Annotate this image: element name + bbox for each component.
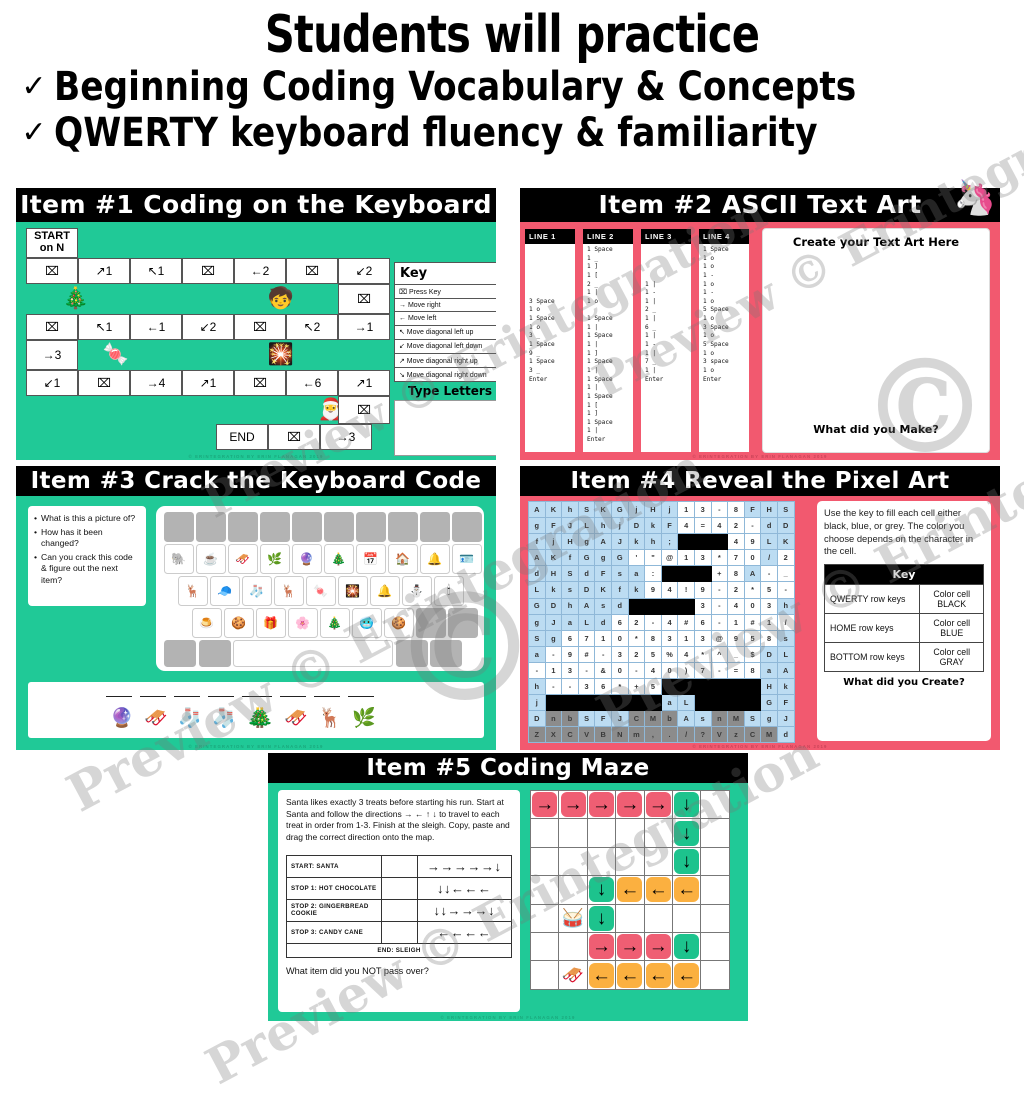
pixel-cell[interactable] <box>645 598 662 614</box>
maze-empty-cell[interactable] <box>559 819 587 847</box>
pixel-cell[interactable] <box>728 695 745 711</box>
pixel-cell[interactable]: a <box>529 646 546 662</box>
pixel-cell[interactable] <box>611 695 628 711</box>
item1-code-cell[interactable]: ⌧ <box>338 396 390 424</box>
arrow-icon[interactable]: → <box>589 934 614 959</box>
pixel-cell[interactable]: 2 <box>728 518 745 534</box>
maze-empty-cell[interactable] <box>701 961 729 989</box>
pixel-cell[interactable]: M <box>645 711 662 727</box>
maze-arrow-tile[interactable]: ↓ <box>587 904 615 932</box>
pixel-cell[interactable]: V <box>578 727 595 743</box>
pixel-cell[interactable]: S <box>562 566 579 582</box>
pixel-cell[interactable]: * <box>744 582 761 598</box>
pixel-cell[interactable]: H <box>761 679 778 695</box>
arrow-icon[interactable]: → <box>617 934 642 959</box>
maze-empty-cell[interactable] <box>587 819 615 847</box>
pixel-cell[interactable]: A <box>529 550 546 566</box>
pixel-cell[interactable]: g <box>578 534 595 550</box>
pixel-cell[interactable]: 0 <box>611 662 628 678</box>
blank-key[interactable] <box>356 512 386 542</box>
pixel-cell[interactable] <box>678 598 695 614</box>
pixel-cell[interactable]: G <box>761 695 778 711</box>
pixel-cell[interactable]: 8 <box>744 662 761 678</box>
maze-empty-cell[interactable] <box>701 847 729 875</box>
pixel-cell[interactable]: L <box>578 614 595 630</box>
picture-key[interactable]: 🏠 <box>388 544 418 574</box>
pixel-cell[interactable]: D <box>578 582 595 598</box>
pixel-cell[interactable]: F <box>545 518 562 534</box>
pixel-cell[interactable]: 7 <box>578 630 595 646</box>
pixel-cell[interactable]: - <box>545 646 562 662</box>
item1-code-cell[interactable]: ⌧ <box>268 424 320 450</box>
maze-arrow-tile[interactable]: ↓ <box>587 876 615 904</box>
picture-key[interactable]: ☕ <box>196 544 226 574</box>
pixel-cell[interactable]: 1 <box>678 630 695 646</box>
pixel-cell[interactable]: 9 <box>562 646 579 662</box>
pixel-cell[interactable]: k <box>645 518 662 534</box>
item1-code-cell[interactable]: ⌧ <box>182 258 234 284</box>
pixel-cell[interactable]: - <box>545 679 562 695</box>
picture-keyboard[interactable]: 🐘☕🛷🌿🔮🎄📅🏠🔔🪪🦌🧢🧦🦌🍬🎇🔔⛄🕯🍮🍪🎁🌸🎄🥶🍪 <box>156 506 484 671</box>
pixel-cell[interactable]: = <box>694 518 711 534</box>
pixel-cell[interactable]: M <box>728 711 745 727</box>
spacebar[interactable] <box>233 640 393 667</box>
pixel-cell[interactable] <box>678 566 695 582</box>
pixel-cell[interactable]: C <box>562 727 579 743</box>
item1-code-cell[interactable]: ⌧ <box>26 314 78 340</box>
pixel-cell[interactable]: _ <box>777 566 794 582</box>
arrow-icon[interactable]: ↓ <box>674 821 699 846</box>
type-letters-input[interactable] <box>394 400 496 456</box>
pixel-cell[interactable]: C <box>744 727 761 743</box>
pixel-cell[interactable]: 4 <box>645 662 662 678</box>
pixel-cell[interactable] <box>744 679 761 695</box>
arrow-icon[interactable]: ↓ <box>589 877 614 902</box>
maze-arrow-tile[interactable]: → <box>531 791 559 819</box>
blank-key[interactable] <box>448 608 478 638</box>
pixel-cell[interactable]: 6 <box>611 614 628 630</box>
pixel-cell[interactable]: # <box>744 614 761 630</box>
item1-code-cell[interactable]: ⌧ <box>234 370 286 396</box>
picture-key[interactable]: 🦌 <box>274 576 304 606</box>
pixel-cell[interactable]: m <box>628 727 645 743</box>
text-art-canvas[interactable]: Create your Text Art Here What did you M… <box>762 228 990 453</box>
pixel-cell[interactable]: X <box>545 727 562 743</box>
pixel-cell[interactable]: - <box>645 614 662 630</box>
maze-arrow-tile[interactable]: ← <box>616 876 644 904</box>
item1-code-cell[interactable]: ⌧ <box>26 258 78 284</box>
pixel-cell[interactable]: h <box>595 518 612 534</box>
pixel-cell[interactable]: % <box>661 646 678 662</box>
item1-code-cell[interactable]: ⌧ <box>78 370 130 396</box>
pixel-cell[interactable]: J <box>611 534 628 550</box>
arrow-icon[interactable]: ← <box>646 877 671 902</box>
pixel-cell[interactable]: 2 <box>777 550 794 566</box>
pixel-cell[interactable]: 1 <box>678 550 695 566</box>
pixel-cell[interactable]: j <box>529 695 546 711</box>
pixel-cell[interactable]: / <box>761 550 778 566</box>
pixel-cell[interactable]: : <box>645 566 662 582</box>
maze-arrow-tile[interactable]: → <box>587 791 615 819</box>
picture-key[interactable]: 🔔 <box>370 576 400 606</box>
arrow-icon[interactable]: → <box>561 792 586 817</box>
maze-empty-cell[interactable] <box>701 791 729 819</box>
pixel-cell[interactable]: L <box>578 518 595 534</box>
maze-empty-cell[interactable] <box>701 876 729 904</box>
maze-empty-cell[interactable] <box>531 961 559 989</box>
pixel-cell[interactable]: s <box>694 711 711 727</box>
blank-key[interactable] <box>416 608 446 638</box>
pixel-cell[interactable]: * <box>611 679 628 695</box>
maze-empty-cell[interactable] <box>701 904 729 932</box>
pixel-cell[interactable]: A <box>777 662 794 678</box>
maze-arrow-tile[interactable]: ↓ <box>672 791 700 819</box>
pixel-cell[interactable]: g <box>545 630 562 646</box>
pixel-cell[interactable]: L <box>529 582 546 598</box>
picture-key[interactable]: 🎇 <box>338 576 368 606</box>
pixel-cell[interactable]: 9 <box>694 582 711 598</box>
pixel-cell[interactable]: 9 <box>645 582 662 598</box>
answer-blank[interactable] <box>106 696 132 697</box>
pixel-cell[interactable]: a <box>761 662 778 678</box>
picture-key[interactable]: 🎁 <box>256 608 286 638</box>
pixel-cell[interactable]: K <box>777 534 794 550</box>
pixel-cell[interactable]: + <box>628 679 645 695</box>
pixel-cell[interactable]: F <box>595 566 612 582</box>
pixel-cell[interactable]: 5 <box>645 679 662 695</box>
blank-key[interactable] <box>420 512 450 542</box>
pixel-cell[interactable]: K <box>545 502 562 518</box>
pixel-cell[interactable]: 4 <box>728 534 745 550</box>
pixel-cell[interactable]: H <box>761 502 778 518</box>
item1-code-cell[interactable]: ↗1 <box>338 370 390 396</box>
arrow-icon[interactable]: → <box>646 934 671 959</box>
pixel-cell[interactable]: 3 <box>694 502 711 518</box>
pixel-cell[interactable]: 3 <box>661 630 678 646</box>
pixel-cell[interactable]: d <box>761 518 778 534</box>
picture-key[interactable]: 🌿 <box>260 544 290 574</box>
picture-key[interactable]: 🦌 <box>178 576 208 606</box>
pixel-cell[interactable]: f <box>562 550 579 566</box>
pixel-cell[interactable] <box>562 695 579 711</box>
pixel-cell[interactable]: L <box>678 695 695 711</box>
pixel-cell[interactable]: - <box>711 502 728 518</box>
pixel-cell[interactable]: n <box>545 711 562 727</box>
pixel-cell[interactable]: K <box>595 582 612 598</box>
pixel-cell[interactable]: - <box>628 662 645 678</box>
pixel-cell[interactable]: d <box>777 727 794 743</box>
arrow-icon[interactable]: ← <box>674 963 699 988</box>
pixel-cell[interactable]: - <box>777 582 794 598</box>
item1-code-cell[interactable]: ↗1 <box>78 258 130 284</box>
picture-key[interactable]: 🥶 <box>352 608 382 638</box>
blank-key[interactable] <box>260 512 290 542</box>
pixel-cell[interactable]: 4 <box>711 518 728 534</box>
pixel-cell[interactable]: f <box>529 534 546 550</box>
item1-code-cell[interactable]: ←1 <box>130 314 182 340</box>
pixel-cell[interactable]: d <box>595 614 612 630</box>
maze-empty-cell[interactable] <box>531 847 559 875</box>
item1-code-cell[interactable]: ⌧ <box>286 258 338 284</box>
arrow-icon[interactable]: → <box>532 792 557 817</box>
item1-code-cell[interactable]: →4 <box>130 370 182 396</box>
pixel-cell[interactable]: h <box>529 679 546 695</box>
answer-blank[interactable] <box>348 696 374 697</box>
pixel-cell[interactable]: C <box>628 711 645 727</box>
pixel-cell[interactable]: N <box>611 727 628 743</box>
pixel-cell[interactable]: * <box>628 630 645 646</box>
pixel-cell[interactable]: 6 <box>595 679 612 695</box>
maze-arrow-tile[interactable]: ↓ <box>672 819 700 847</box>
pixel-cell[interactable]: D <box>628 518 645 534</box>
pixel-cell[interactable]: 7 <box>728 550 745 566</box>
pixel-cell[interactable]: g <box>529 518 546 534</box>
pixel-cell[interactable]: - <box>711 662 728 678</box>
pixel-cell[interactable]: F <box>744 502 761 518</box>
pixel-cell[interactable]: 8 <box>645 630 662 646</box>
pixel-cell[interactable]: = <box>728 662 745 678</box>
pixel-cell[interactable]: A <box>744 566 761 582</box>
pixel-cell[interactable]: k <box>545 582 562 598</box>
pixel-cell[interactable]: K <box>595 502 612 518</box>
maze-grid[interactable]: →→→→→↓↓↓↓←←←🥁↓→→→↓🛷←←←← <box>530 790 730 990</box>
pixel-cell[interactable]: 5 <box>744 630 761 646</box>
pixel-cell[interactable] <box>628 598 645 614</box>
item1-code-cell[interactable]: ↖2 <box>286 314 338 340</box>
pixel-cell[interactable]: d <box>529 566 546 582</box>
maze-arrow-tile[interactable]: → <box>616 791 644 819</box>
arrow-icon[interactable]: ↓ <box>589 906 614 931</box>
pixel-cell[interactable]: 0 <box>744 550 761 566</box>
pixel-cell[interactable]: 3 <box>694 630 711 646</box>
arrow-icon[interactable]: ← <box>617 877 642 902</box>
pixel-cell[interactable] <box>694 566 711 582</box>
pixel-cell[interactable]: # <box>578 646 595 662</box>
pixel-cell[interactable]: / <box>777 614 794 630</box>
pixel-cell[interactable]: / <box>678 727 695 743</box>
pixel-cell[interactable]: D <box>529 711 546 727</box>
pixel-cell[interactable] <box>694 695 711 711</box>
pixel-cell[interactable]: - <box>562 679 579 695</box>
pixel-cell[interactable]: * <box>694 646 711 662</box>
pixel-cell[interactable]: K <box>545 550 562 566</box>
pixel-cell[interactable] <box>661 566 678 582</box>
item3-answer-box[interactable]: 🔮🛷🧦🧦🎄🎄🛷🦌🌿 <box>28 682 484 738</box>
pixel-cell[interactable]: H <box>645 502 662 518</box>
pixel-cell[interactable] <box>628 695 645 711</box>
maze-empty-cell[interactable] <box>531 904 559 932</box>
pixel-cell[interactable]: 7 <box>694 662 711 678</box>
maze-empty-cell[interactable] <box>616 904 644 932</box>
pixel-cell[interactable]: s <box>595 598 612 614</box>
maze-item-sleigh[interactable]: 🛷 <box>559 961 587 989</box>
maze-empty-cell[interactable] <box>559 847 587 875</box>
maze-arrow-tile[interactable]: ← <box>672 961 700 989</box>
pixel-cell[interactable]: G <box>611 550 628 566</box>
pixel-cell[interactable]: S <box>578 502 595 518</box>
maze-empty-cell[interactable] <box>644 847 672 875</box>
pixel-cell[interactable]: + <box>711 566 728 582</box>
pixel-cell[interactable]: G <box>578 550 595 566</box>
answer-blank[interactable] <box>280 696 306 697</box>
pixel-cell[interactable]: _ <box>728 646 745 662</box>
maze-empty-cell[interactable] <box>531 932 559 960</box>
pixel-cell[interactable]: 1 <box>728 614 745 630</box>
pixel-cell[interactable]: 4 <box>678 518 695 534</box>
pixel-cell[interactable]: 0 <box>661 662 678 678</box>
arrow-icon[interactable]: ← <box>589 963 614 988</box>
blank-key[interactable] <box>452 512 482 542</box>
pixel-art-grid[interactable]: AKhSKGjHj13-8FHSgFJLhjDkF4=42-dDfjHgAJkh… <box>528 501 795 743</box>
maze-empty-cell[interactable] <box>616 847 644 875</box>
picture-key[interactable]: 🎄 <box>320 608 350 638</box>
item1-code-cell[interactable]: ⌧ <box>234 314 286 340</box>
blank-key[interactable] <box>324 512 354 542</box>
pixel-cell[interactable]: 3 <box>578 679 595 695</box>
item1-code-cell[interactable]: ↙2 <box>182 314 234 340</box>
pixel-cell[interactable]: S <box>529 630 546 646</box>
pixel-cell[interactable]: s <box>777 630 794 646</box>
pixel-cell[interactable]: ' <box>628 550 645 566</box>
maze-arrow-tile[interactable]: ← <box>672 876 700 904</box>
pixel-cell[interactable] <box>744 695 761 711</box>
pixel-cell[interactable]: A <box>595 534 612 550</box>
pixel-cell[interactable]: 0 <box>744 598 761 614</box>
arrow-icon[interactable]: ← <box>674 877 699 902</box>
pixel-cell[interactable] <box>711 695 728 711</box>
arrow-icon[interactable]: → <box>589 792 614 817</box>
pixel-cell[interactable] <box>711 679 728 695</box>
pixel-cell[interactable]: - <box>711 582 728 598</box>
picture-key[interactable]: 🕯 <box>434 576 464 606</box>
item1-code-cell[interactable]: ↖1 <box>130 258 182 284</box>
pixel-cell[interactable]: 3 <box>761 598 778 614</box>
pixel-cell[interactable]: B <box>595 727 612 743</box>
pixel-cell[interactable]: 6 <box>694 614 711 630</box>
pixel-cell[interactable]: ) <box>678 662 695 678</box>
pixel-cell[interactable]: # <box>678 614 695 630</box>
item1-code-cell[interactable]: ↖1 <box>78 314 130 340</box>
picture-key[interactable]: 🔮 <box>292 544 322 574</box>
maze-arrow-tile[interactable]: → <box>587 932 615 960</box>
pixel-cell[interactable]: s <box>611 566 628 582</box>
picture-key[interactable]: 🧦 <box>242 576 272 606</box>
arrow-icon[interactable]: ↓ <box>674 934 699 959</box>
picture-key[interactable]: 🛷 <box>228 544 258 574</box>
pixel-cell[interactable] <box>711 534 728 550</box>
picture-key[interactable]: 🔔 <box>420 544 450 574</box>
pixel-cell[interactable]: M <box>761 727 778 743</box>
pixel-cell[interactable]: b <box>562 711 579 727</box>
answer-blank[interactable] <box>174 696 200 697</box>
blank-key[interactable] <box>292 512 322 542</box>
blank-key[interactable] <box>164 512 194 542</box>
blank-key[interactable] <box>199 640 231 667</box>
pixel-cell[interactable]: A <box>578 598 595 614</box>
pixel-cell[interactable]: ? <box>694 727 711 743</box>
pixel-cell[interactable]: 2 <box>728 582 745 598</box>
pixel-cell[interactable]: D <box>545 598 562 614</box>
pixel-cell[interactable] <box>661 598 678 614</box>
pixel-cell[interactable]: A <box>529 502 546 518</box>
pixel-cell[interactable]: J <box>545 614 562 630</box>
route-arrows[interactable]: ←←←← <box>417 921 512 943</box>
pixel-cell[interactable]: a <box>562 614 579 630</box>
arrow-icon[interactable]: ↓ <box>674 792 699 817</box>
maze-empty-cell[interactable] <box>644 904 672 932</box>
pixel-cell[interactable]: - <box>529 662 546 678</box>
pixel-cell[interactable]: k <box>777 679 794 695</box>
picture-key[interactable]: 🍮 <box>192 608 222 638</box>
picture-key[interactable]: 🍪 <box>224 608 254 638</box>
pixel-cell[interactable]: - <box>578 662 595 678</box>
pixel-cell[interactable]: 4 <box>661 582 678 598</box>
pixel-cell[interactable]: S <box>777 502 794 518</box>
pixel-cell[interactable]: . <box>661 727 678 743</box>
route-arrows[interactable]: ↓↓←←← <box>417 877 512 899</box>
pixel-cell[interactable] <box>645 695 662 711</box>
picture-key[interactable]: ⛄ <box>402 576 432 606</box>
answer-blank[interactable] <box>140 696 166 697</box>
pixel-cell[interactable]: a <box>628 566 645 582</box>
arrow-icon[interactable]: ↓ <box>674 849 699 874</box>
answer-blank[interactable] <box>246 696 272 697</box>
pixel-cell[interactable] <box>678 679 695 695</box>
pixel-cell[interactable]: k <box>628 582 645 598</box>
maze-arrow-tile[interactable]: → <box>644 791 672 819</box>
item1-code-cell[interactable]: →1 <box>338 314 390 340</box>
pixel-cell[interactable]: g <box>761 711 778 727</box>
pixel-cell[interactable]: h <box>562 598 579 614</box>
pixel-cell[interactable]: ^ <box>711 646 728 662</box>
pixel-cell[interactable]: j <box>628 502 645 518</box>
pixel-cell[interactable]: L <box>761 534 778 550</box>
item1-code-cell[interactable]: ←6 <box>286 370 338 396</box>
maze-arrow-tile[interactable]: ↓ <box>672 932 700 960</box>
maze-empty-cell[interactable] <box>672 904 700 932</box>
pixel-cell[interactable]: g <box>595 550 612 566</box>
maze-empty-cell[interactable] <box>701 932 729 960</box>
pixel-cell[interactable] <box>578 695 595 711</box>
arrow-icon[interactable]: ← <box>646 963 671 988</box>
maze-empty-cell[interactable] <box>616 819 644 847</box>
maze-arrow-tile[interactable]: ← <box>644 876 672 904</box>
pixel-cell[interactable]: j <box>661 502 678 518</box>
pixel-cell[interactable]: d <box>611 598 628 614</box>
pixel-cell[interactable]: * <box>711 550 728 566</box>
item1-code-cell[interactable]: ↙2 <box>338 258 390 284</box>
pixel-cell[interactable]: 4 <box>661 614 678 630</box>
pixel-cell[interactable]: , <box>645 727 662 743</box>
pixel-cell[interactable]: @ <box>711 630 728 646</box>
maze-empty-cell[interactable] <box>701 819 729 847</box>
picture-key[interactable]: 🍪 <box>384 608 414 638</box>
pixel-cell[interactable]: F <box>595 711 612 727</box>
maze-arrow-tile[interactable]: → <box>616 932 644 960</box>
pixel-cell[interactable]: - <box>711 598 728 614</box>
item1-code-cell[interactable]: ←2 <box>234 258 286 284</box>
pixel-cell[interactable]: n <box>711 711 728 727</box>
item5-route-table[interactable]: START: SANTA→→→→→↓STOP 1: HOT CHOCOLATE↓… <box>286 855 512 958</box>
blank-key[interactable] <box>388 512 418 542</box>
pixel-cell[interactable] <box>595 695 612 711</box>
pixel-cell[interactable]: d <box>578 566 595 582</box>
maze-arrow-tile[interactable]: ← <box>587 961 615 989</box>
picture-key[interactable]: 🐘 <box>164 544 194 574</box>
pixel-cell[interactable]: J <box>611 711 628 727</box>
pixel-cell[interactable]: j <box>611 518 628 534</box>
pixel-cell[interactable]: 1 <box>545 662 562 678</box>
